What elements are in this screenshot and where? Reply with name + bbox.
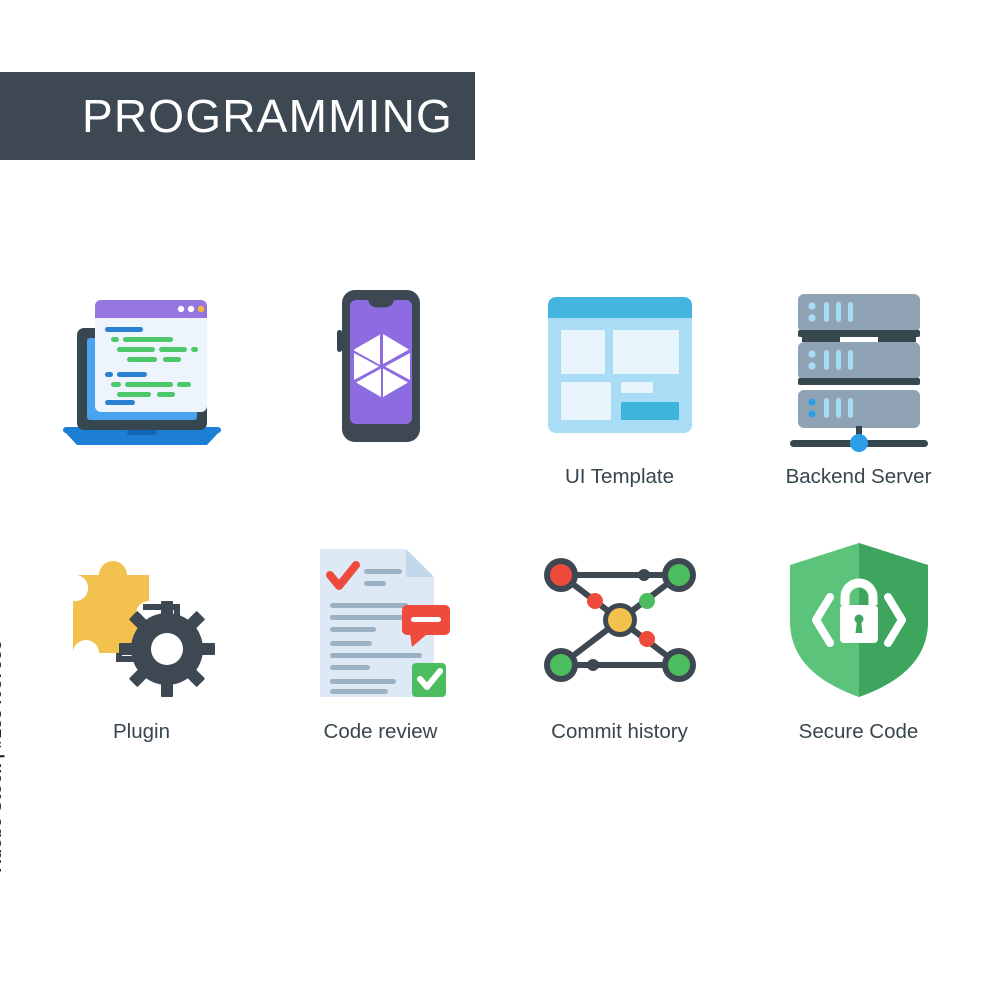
icon-cell-ui-template[interactable]: UI Template	[500, 270, 739, 525]
icon-label: Plugin	[113, 721, 170, 744]
icon-label: Secure Code	[799, 721, 919, 744]
commit-history-icon	[525, 525, 715, 715]
backend-server-icon	[764, 270, 954, 460]
icon-cell-plugin[interactable]: Plugin	[22, 525, 261, 780]
icon-cell-code-editor-laptop[interactable]	[22, 270, 261, 525]
icon-cell-secure-code[interactable]: Secure Code	[739, 525, 978, 780]
icon-cell-backend-server[interactable]: Backend Server	[739, 270, 978, 525]
icon-label: UI Template	[565, 466, 674, 489]
icon-cell-commit-history[interactable]: Commit history	[500, 525, 739, 780]
icon-grid: UI Template	[22, 270, 978, 780]
page-title-banner: PROGRAMMING	[0, 72, 475, 160]
stock-watermark: Adobe Stock | #1834087553	[0, 640, 6, 872]
icon-set-page: PROGRAMMING	[0, 0, 1000, 1000]
plugin-icon	[47, 525, 237, 715]
icon-label: Commit history	[551, 721, 688, 744]
icon-label: Code review	[324, 721, 438, 744]
code-review-icon	[286, 525, 476, 715]
icon-cell-code-review[interactable]: Code review	[261, 525, 500, 780]
code-editor-laptop-icon	[47, 270, 237, 460]
secure-code-icon	[764, 525, 954, 715]
mobile-app-phone-icon	[286, 270, 476, 460]
page-title: PROGRAMMING	[82, 89, 453, 143]
icon-cell-mobile-app-phone[interactable]	[261, 270, 500, 525]
icon-label: Backend Server	[786, 466, 932, 489]
ui-template-icon	[525, 270, 715, 460]
